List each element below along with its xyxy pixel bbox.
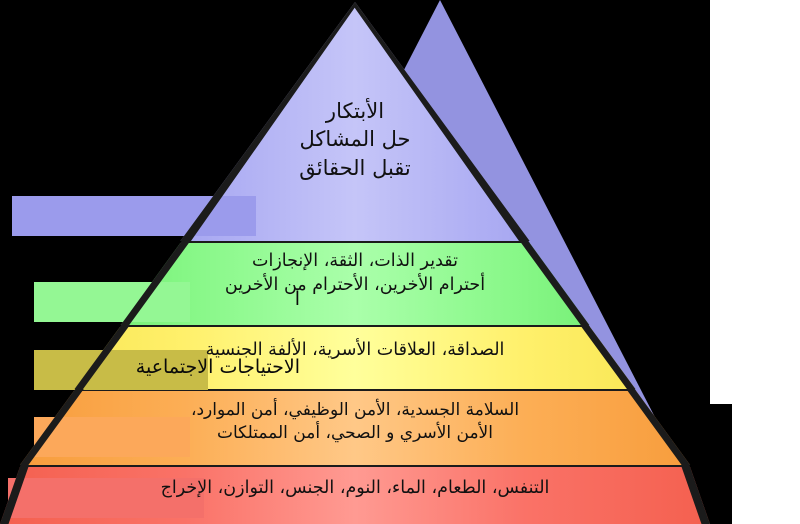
legend-item-self-actualization[interactable] [0, 196, 300, 242]
tier-text-esteem: تقدير الذات، الثقة، الإنجازات أحترام الأ… [0, 250, 710, 297]
legend-swatch-self-actualization [12, 196, 256, 236]
tier-text-social: الصداقة، العلاقات الأسرية، الألفة الجنسي… [0, 339, 710, 363]
black-backdrop-notch [710, 404, 732, 524]
tier-text-safety: السلامة الجسدية، الأمن الوظيفي، أمن المو… [0, 399, 710, 445]
pyramid-infographic: الأبتكار حل المشاكل تقبل الحقائق تقدير ا… [0, 0, 800, 524]
tier-text-physiological: التنفس، الطعام، الماء، النوم، الجنس، الت… [0, 477, 710, 501]
tier-text-self-actualization: الأبتكار حل المشاكل تقبل الحقائق [0, 97, 710, 182]
